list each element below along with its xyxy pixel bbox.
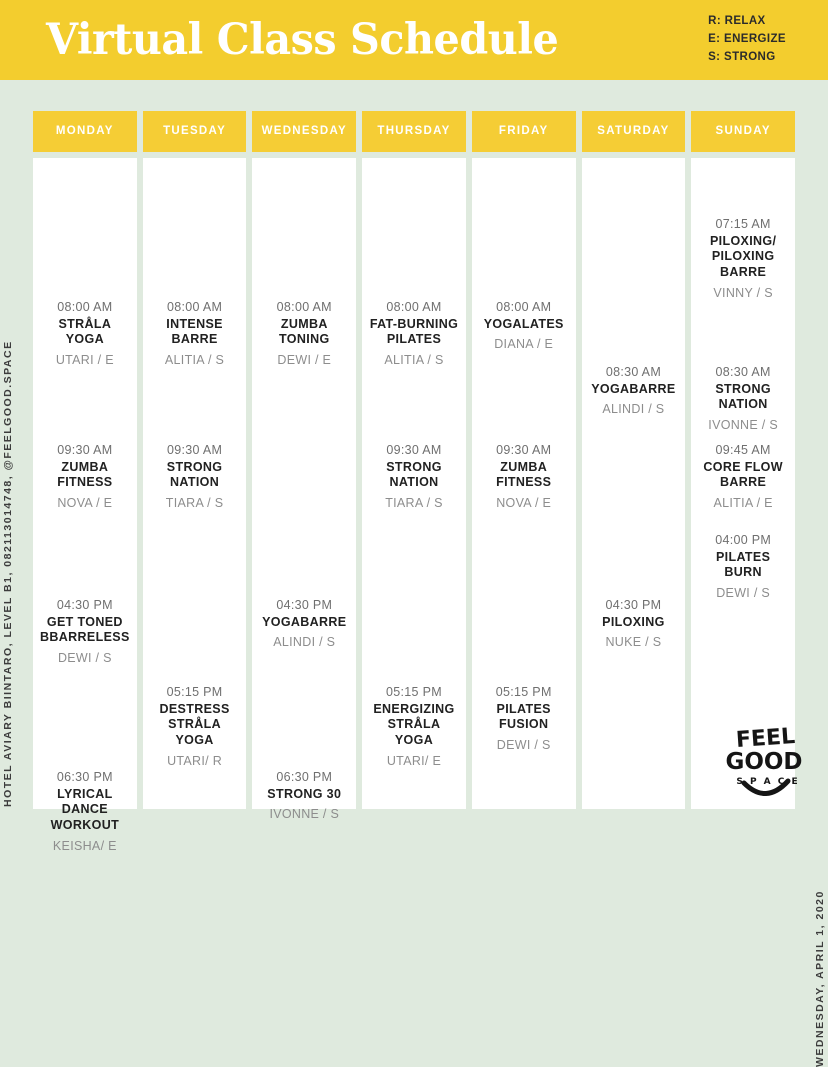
class-name: ENERGIZING STRÅLA YOGA	[366, 702, 462, 749]
class-instructor: NUKE / S	[586, 633, 682, 651]
class-time: 05:15 PM	[476, 683, 572, 701]
class-time: 09:30 AM	[37, 441, 133, 459]
day-header-tuesday[interactable]: TUESDAY	[143, 111, 247, 152]
class-name: YOGABARRE	[586, 382, 682, 398]
class-instructor: ALITIA / S	[366, 351, 462, 369]
class-entry[interactable]: 04:30 PMGET TONED BBARRELESSDEWI / S	[33, 596, 137, 668]
class-name: PILATES BURN	[695, 550, 791, 581]
day-body-saturday: 08:30 AMYOGABARREALINDI / S04:30 PMPILOX…	[582, 158, 686, 810]
class-instructor: TIARA / S	[366, 494, 462, 512]
class-instructor: VINNY / S	[695, 284, 791, 302]
page-title: Virtual Class Schedule	[46, 19, 558, 62]
class-time: 09:30 AM	[147, 441, 243, 459]
day-column-saturday: SATURDAY08:30 AMYOGABARREALINDI / S04:30…	[579, 111, 689, 809]
class-entry[interactable]: 08:30 AMSTRONG NATIONIVONNE / S	[691, 363, 795, 435]
class-name: YOGABARRE	[256, 615, 352, 631]
class-name: STRONG NATION	[366, 460, 462, 491]
class-entry[interactable]: 04:00 PMPILATES BURNDEWI / S	[691, 531, 795, 603]
day-column-sunday: SUNDAY07:15 AMPILOXING/ PILOXING BARREVI…	[688, 111, 798, 809]
day-header-friday[interactable]: FRIDAY	[472, 111, 576, 152]
intensity-legend: R: RELAX E: ENERGIZE S: STRONG	[708, 13, 806, 66]
class-time: 07:15 AM	[695, 215, 791, 233]
class-instructor: ALITIA / E	[695, 494, 791, 512]
class-name: STRONG NATION	[147, 460, 243, 491]
class-instructor: DEWI / S	[695, 584, 791, 602]
class-name: STRÅLA YOGA	[37, 317, 133, 348]
class-time: 08:30 AM	[586, 363, 682, 381]
class-name: DESTRESS STRÅLA YOGA	[147, 702, 243, 749]
class-entry[interactable]: 05:15 PMDESTRESS STRÅLA YOGAUTARI/ R	[143, 683, 247, 770]
class-name: INTENSE BARRE	[147, 317, 243, 348]
class-time: 08:30 AM	[695, 363, 791, 381]
legend-item-energize: E: ENERGIZE	[708, 31, 786, 49]
day-column-tuesday: TUESDAY08:00 AMINTENSE BARREALITIA / S09…	[140, 111, 250, 809]
class-instructor: UTARI/ E	[366, 752, 462, 770]
class-instructor: ALINDI / S	[256, 633, 352, 651]
class-time: 04:30 PM	[586, 596, 682, 614]
header-banner: Virtual Class Schedule R: RELAX E: ENERG…	[0, 0, 828, 80]
day-body-monday: 08:00 AMSTRÅLA YOGAUTARI / E09:30 AMZUMB…	[33, 158, 137, 810]
class-instructor: ALITIA / S	[147, 351, 243, 369]
class-instructor: DEWI / S	[37, 649, 133, 667]
class-name: ZUMBA TONING	[256, 317, 352, 348]
class-entry[interactable]: 09:45 AMCORE FLOW BARREALITIA / E	[691, 441, 795, 513]
legend-item-relax: R: RELAX	[708, 13, 786, 31]
class-instructor: NOVA / E	[37, 494, 133, 512]
day-body-wednesday: 08:00 AMZUMBA TONINGDEWI / E04:30 PMYOGA…	[252, 158, 356, 810]
day-column-thursday: THURSDAY08:00 AMFAT-BURNING PILATESALITI…	[359, 111, 469, 809]
class-name: LYRICAL DANCE WORKOUT	[37, 787, 133, 834]
class-name: PILOXING	[586, 615, 682, 631]
class-name: FAT-BURNING PILATES	[366, 317, 462, 348]
class-time: 04:30 PM	[256, 596, 352, 614]
class-time: 04:30 PM	[37, 596, 133, 614]
class-time: 08:00 AM	[366, 298, 462, 316]
class-entry[interactable]: 09:30 AMSTRONG NATIONTIARA / S	[362, 441, 466, 513]
class-time: 04:00 PM	[695, 531, 791, 549]
day-header-sunday[interactable]: SUNDAY	[691, 111, 795, 152]
day-body-sunday: 07:15 AMPILOXING/ PILOXING BARREVINNY / …	[691, 158, 795, 810]
class-name: PILOXING/ PILOXING BARRE	[695, 234, 791, 281]
class-instructor: UTARI / E	[37, 351, 133, 369]
class-time: 08:00 AM	[476, 298, 572, 316]
class-name: ZUMBA FITNESS	[37, 460, 133, 491]
class-name: YOGALATES	[476, 317, 572, 333]
class-entry[interactable]: 08:30 AMYOGABARREALINDI / S	[582, 363, 686, 419]
class-time: 09:30 AM	[366, 441, 462, 459]
class-time: 05:15 PM	[366, 683, 462, 701]
class-instructor: KEISHA/ E	[37, 837, 133, 855]
class-entry[interactable]: 09:30 AMZUMBA FITNESSNOVA / E	[33, 441, 137, 513]
class-entry[interactable]: 08:00 AMSTRÅLA YOGAUTARI / E	[33, 298, 137, 370]
legend-item-strong: S: STRONG	[708, 49, 786, 67]
day-header-monday[interactable]: MONDAY	[33, 111, 137, 152]
class-instructor: DEWI / S	[476, 736, 572, 754]
day-body-friday: 08:00 AMYOGALATESDIANA / E09:30 AMZUMBA …	[472, 158, 576, 810]
day-column-wednesday: WEDNESDAY08:00 AMZUMBA TONINGDEWI / E04:…	[249, 111, 359, 809]
day-header-wednesday[interactable]: WEDNESDAY	[252, 111, 356, 152]
schedule-grid: MONDAY08:00 AMSTRÅLA YOGAUTARI / E09:30 …	[30, 111, 798, 809]
schedule-date-caption: WEDNESDAY, APRIL 1, 2020	[814, 807, 826, 1067]
class-entry[interactable]: 07:15 AMPILOXING/ PILOXING BARREVINNY / …	[691, 215, 795, 302]
class-name: GET TONED BBARRELESS	[37, 615, 133, 646]
class-instructor: DIANA / E	[476, 335, 572, 353]
day-body-tuesday: 08:00 AMINTENSE BARREALITIA / S09:30 AMS…	[143, 158, 247, 810]
class-entry[interactable]: 04:30 PMPILOXINGNUKE / S	[582, 596, 686, 652]
class-entry[interactable]: 05:15 PMENERGIZING STRÅLA YOGAUTARI/ E	[362, 683, 466, 770]
class-entry[interactable]: 08:00 AMFAT-BURNING PILATESALITIA / S	[362, 298, 466, 370]
class-entry[interactable]: 04:30 PMYOGABARREALINDI / S	[252, 596, 356, 652]
class-time: 08:00 AM	[256, 298, 352, 316]
class-time: 09:30 AM	[476, 441, 572, 459]
class-time: 05:15 PM	[147, 683, 243, 701]
class-entry[interactable]: 09:30 AMZUMBA FITNESSNOVA / E	[472, 441, 576, 513]
class-name: PILATES FUSION	[476, 702, 572, 733]
class-name: ZUMBA FITNESS	[476, 460, 572, 491]
day-column-friday: FRIDAY08:00 AMYOGALATESDIANA / E09:30 AM…	[469, 111, 579, 809]
class-time: 08:00 AM	[37, 298, 133, 316]
class-entry[interactable]: 08:00 AMINTENSE BARREALITIA / S	[143, 298, 247, 370]
class-instructor: TIARA / S	[147, 494, 243, 512]
class-time: 06:30 PM	[256, 768, 352, 786]
class-instructor: IVONNE / S	[695, 416, 791, 434]
day-header-saturday[interactable]: SATURDAY	[582, 111, 686, 152]
class-instructor: DEWI / E	[256, 351, 352, 369]
class-time: 09:45 AM	[695, 441, 791, 459]
logo-line-2: GOOD	[725, 749, 802, 775]
class-entry[interactable]: 08:00 AMZUMBA TONINGDEWI / E	[252, 298, 356, 370]
class-entry[interactable]: 08:00 AMYOGALATESDIANA / E	[472, 298, 576, 354]
class-entry[interactable]: 06:30 PMSTRONG 30IVONNE / S	[252, 768, 356, 824]
class-instructor: UTARI/ R	[147, 752, 243, 770]
class-instructor: IVONNE / S	[256, 805, 352, 823]
venue-contact-caption: HOTEL AVIARY BIINTARO, LEVEL B1, 0821130…	[2, 107, 14, 807]
class-time: 08:00 AM	[147, 298, 243, 316]
day-header-thursday[interactable]: THURSDAY	[362, 111, 466, 152]
class-instructor: NOVA / E	[476, 494, 572, 512]
class-time: 06:30 PM	[37, 768, 133, 786]
day-body-thursday: 08:00 AMFAT-BURNING PILATESALITIA / S09:…	[362, 158, 466, 810]
feel-good-space-logo: FEEL GOOD S P A C E	[718, 719, 814, 803]
class-name: CORE FLOW BARRE	[695, 460, 791, 491]
class-entry[interactable]: 09:30 AMSTRONG NATIONTIARA / S	[143, 441, 247, 513]
class-entry[interactable]: 05:15 PMPILATES FUSIONDEWI / S	[472, 683, 576, 755]
class-name: STRONG 30	[256, 787, 352, 803]
class-instructor: ALINDI / S	[586, 400, 682, 418]
class-name: STRONG NATION	[695, 382, 791, 413]
class-entry[interactable]: 06:30 PMLYRICAL DANCE WORKOUTKEISHA/ E	[33, 768, 137, 855]
day-column-monday: MONDAY08:00 AMSTRÅLA YOGAUTARI / E09:30 …	[30, 111, 140, 809]
